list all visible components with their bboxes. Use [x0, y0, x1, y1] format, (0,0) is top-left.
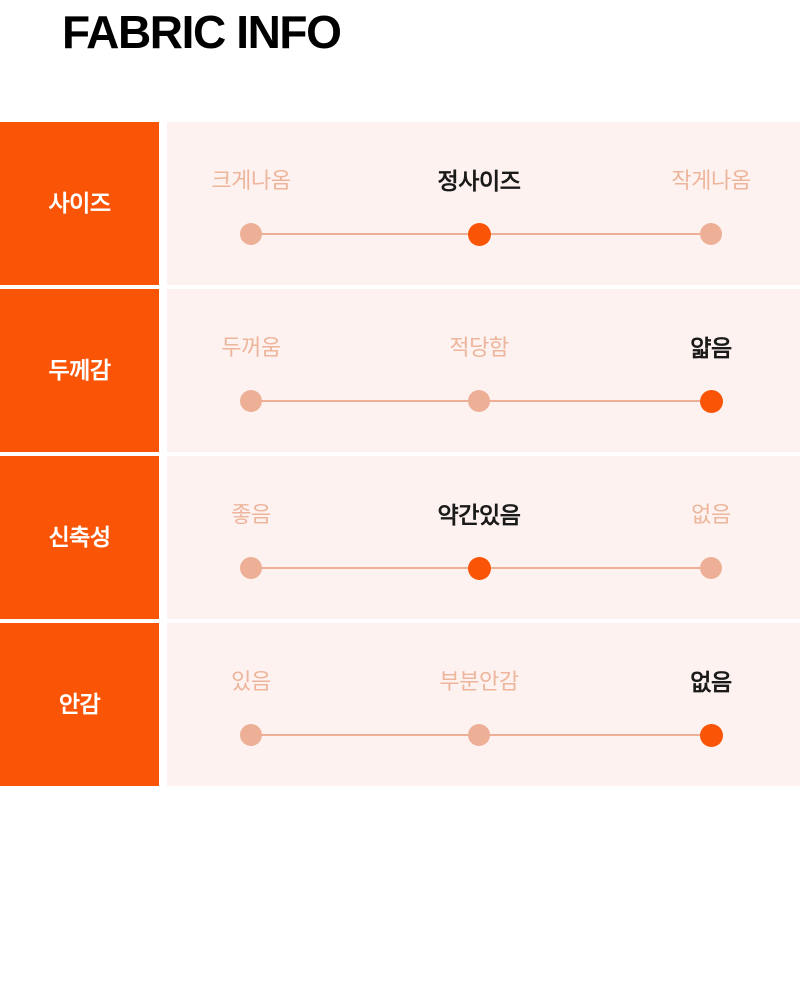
- scale-inner: 있음 부분안감 없음: [167, 623, 800, 786]
- row-gutter: [159, 623, 167, 786]
- table-row: 사이즈 크게나옴 정사이즈 작게나옴: [0, 122, 800, 285]
- scale-inner: 좋음 약간있음 없음: [167, 456, 800, 619]
- scale-label-group: 좋음 약간있음 없음: [167, 498, 800, 532]
- scale-panel-thickness: 두꺼움 적당함 얇음: [167, 289, 800, 452]
- row-label-cell-lining: 안감: [0, 623, 159, 786]
- scale-option-label-0[interactable]: 크게나옴: [211, 164, 290, 198]
- page-title: FABRIC INFO: [62, 2, 340, 62]
- fabric-info-table: 사이즈 크게나옴 정사이즈 작게나옴 두께: [0, 122, 800, 786]
- scale-dot-2[interactable]: [700, 724, 723, 747]
- scale-dot-1[interactable]: [468, 724, 490, 746]
- table-row: 안감 있음 부분안감 없음: [0, 623, 800, 786]
- scale-dot-0[interactable]: [240, 390, 262, 412]
- scale-inner: 크게나옴 정사이즈 작게나옴: [167, 122, 800, 285]
- scale-option-label-1[interactable]: 정사이즈: [437, 164, 520, 198]
- scale-dot-2[interactable]: [700, 223, 722, 245]
- row-label-cell-thickness: 두께감: [0, 289, 159, 452]
- scale-label-group: 두꺼움 적당함 얇음: [167, 331, 800, 365]
- table-row: 신축성 좋음 약간있음 없음: [0, 456, 800, 619]
- scale-dot-1[interactable]: [468, 557, 491, 580]
- table-row: 두께감 두꺼움 적당함 얇음: [0, 289, 800, 452]
- scale-option-label-1[interactable]: 적당함: [449, 331, 509, 365]
- scale-dot-0[interactable]: [240, 724, 262, 746]
- row-label-cell-size: 사이즈: [0, 122, 159, 285]
- row-label-text: 안감: [59, 693, 100, 716]
- scale-option-label-0[interactable]: 좋음: [231, 498, 271, 532]
- scale-dot-0[interactable]: [240, 223, 262, 245]
- scale-dot-2[interactable]: [700, 390, 723, 413]
- scale-option-label-2[interactable]: 작게나옴: [671, 164, 750, 198]
- scale-dot-0[interactable]: [240, 557, 262, 579]
- row-label-text: 신축성: [49, 526, 111, 549]
- scale-dot-2[interactable]: [700, 557, 722, 579]
- scale-panel-size: 크게나옴 정사이즈 작게나옴: [167, 122, 800, 285]
- scale-panel-lining: 있음 부분안감 없음: [167, 623, 800, 786]
- row-gutter: [159, 122, 167, 285]
- scale-option-label-1[interactable]: 부분안감: [439, 665, 518, 699]
- scale-option-label-0[interactable]: 있음: [231, 665, 271, 699]
- fabric-info-page: FABRIC INFO 사이즈 크게나옴 정사이즈 작게나옴: [0, 0, 800, 981]
- scale-dot-1[interactable]: [468, 223, 491, 246]
- scale-dot-1[interactable]: [468, 390, 490, 412]
- row-gutter: [159, 289, 167, 452]
- scale-option-label-2[interactable]: 없음: [690, 665, 732, 699]
- row-label-text: 사이즈: [49, 192, 111, 215]
- scale-label-group: 크게나옴 정사이즈 작게나옴: [167, 164, 800, 198]
- scale-option-label-2[interactable]: 얇음: [690, 331, 732, 365]
- scale-label-group: 있음 부분안감 없음: [167, 665, 800, 699]
- row-gutter: [159, 456, 167, 619]
- row-label-text: 두께감: [49, 359, 111, 382]
- scale-option-label-2[interactable]: 없음: [691, 498, 731, 532]
- scale-panel-elasticity: 좋음 약간있음 없음: [167, 456, 800, 619]
- scale-inner: 두꺼움 적당함 얇음: [167, 289, 800, 452]
- row-label-cell-elasticity: 신축성: [0, 456, 159, 619]
- scale-option-label-1[interactable]: 약간있음: [437, 498, 520, 532]
- scale-option-label-0[interactable]: 두꺼움: [221, 331, 281, 365]
